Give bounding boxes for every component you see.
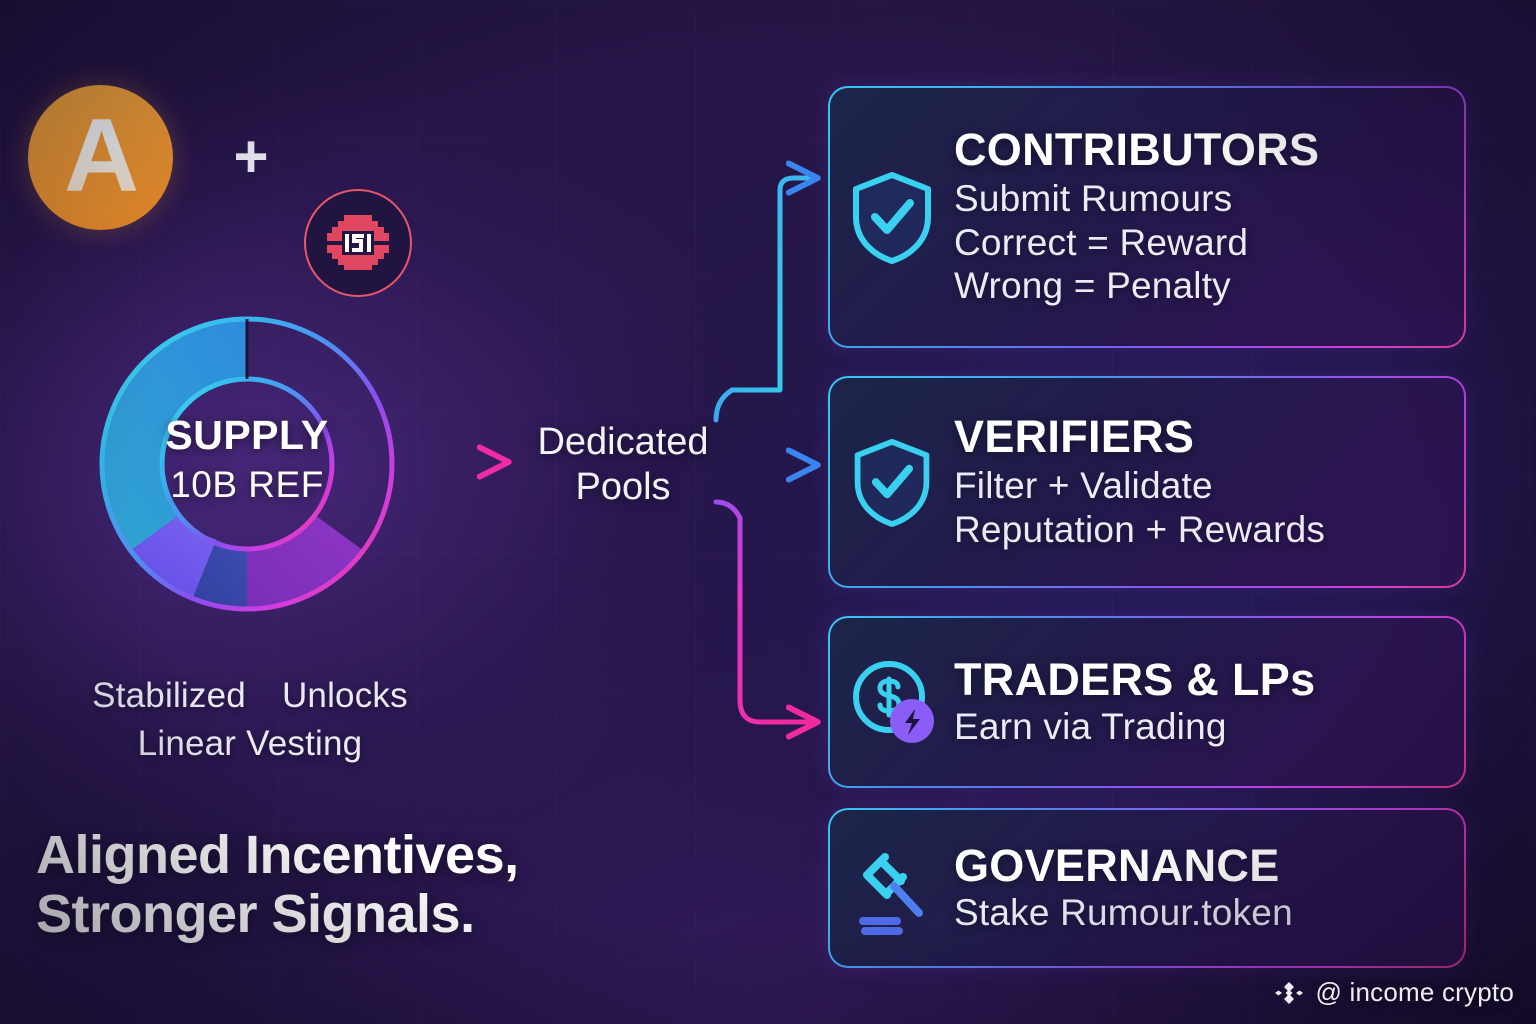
- watermark-handle: @ income crypto: [1316, 977, 1514, 1008]
- dollar-coin-bolt-icon: [830, 655, 954, 749]
- card-verifiers-line-2: Reputation + Rewards: [954, 508, 1448, 552]
- donut-center-title: SUPPLY: [57, 412, 437, 459]
- rumour-pixel-glyph-icon: [318, 203, 398, 283]
- card-contributors-line-3: Wrong = Penalty: [954, 264, 1448, 308]
- card-governance-body: GOVERNANCE Stake Rumour.token: [954, 842, 1464, 935]
- infographic-canvas: A +: [0, 0, 1536, 1024]
- card-verifiers-title: VERIFIERS: [954, 413, 1448, 460]
- card-governance-line-1: Stake Rumour.token: [954, 891, 1448, 935]
- arrow-pools-to-traders: [716, 502, 812, 722]
- card-verifiers-body: VERIFIERS Filter + Validate Reputation +…: [954, 413, 1464, 552]
- plus-icon: +: [224, 131, 278, 185]
- card-governance[interactable]: GOVERNANCE Stake Rumour.token: [828, 808, 1466, 968]
- card-contributors[interactable]: CONTRIBUTORS Submit Rumours Correct = Re…: [828, 86, 1466, 348]
- card-contributors-body: CONTRIBUTORS Submit Rumours Correct = Re…: [954, 126, 1464, 308]
- arrow-pools-to-contributors: [716, 178, 812, 420]
- dedicated-pools-line-1: Dedicated: [530, 420, 716, 465]
- card-traders-lps-body: TRADERS & LPs Earn via Trading: [954, 656, 1464, 749]
- donut-center-amount: 10B REF: [57, 464, 437, 506]
- card-verifiers[interactable]: VERIFIERS Filter + Validate Reputation +…: [828, 376, 1466, 588]
- card-traders-lps-line-1: Earn via Trading: [954, 705, 1448, 749]
- legend-item-linear-vesting: Linear Vesting: [138, 724, 363, 763]
- supply-donut-chart: SUPPLY 10B REF: [57, 274, 437, 654]
- altlayer-logo-letter: A: [64, 104, 137, 208]
- headline-line-1: Aligned Incentives,: [36, 826, 686, 885]
- card-traders-lps-title: TRADERS & LPs: [954, 656, 1448, 703]
- dedicated-pools-label: Dedicated Pools: [530, 420, 716, 510]
- watermark: @ income crypto: [1274, 977, 1514, 1008]
- altlayer-logo: A: [28, 85, 173, 230]
- binance-diamond-icon: [1274, 978, 1304, 1008]
- dedicated-pools-line-2: Pools: [530, 465, 716, 510]
- card-traders-lps[interactable]: TRADERS & LPs Earn via Trading: [828, 616, 1466, 788]
- card-contributors-line-2: Correct = Reward: [954, 221, 1448, 265]
- card-contributors-title: CONTRIBUTORS: [954, 126, 1448, 173]
- legend-item-unlocks: Unlocks: [282, 676, 408, 716]
- gavel-icon: [830, 841, 954, 935]
- brand-logo-row: A +: [28, 85, 428, 230]
- shield-check-icon: [830, 167, 954, 267]
- card-governance-title: GOVERNANCE: [954, 842, 1448, 889]
- card-verifiers-line-1: Filter + Validate: [954, 464, 1448, 508]
- headline-line-2: Stronger Signals.: [36, 885, 686, 944]
- card-contributors-line-1: Submit Rumours: [954, 177, 1448, 221]
- headline: Aligned Incentives, Stronger Signals.: [36, 826, 686, 945]
- shield-check-icon: [830, 434, 954, 530]
- supply-legend: Stabilized Unlocks Linear Vesting: [40, 676, 460, 764]
- legend-item-stabilized: Stabilized: [92, 676, 246, 716]
